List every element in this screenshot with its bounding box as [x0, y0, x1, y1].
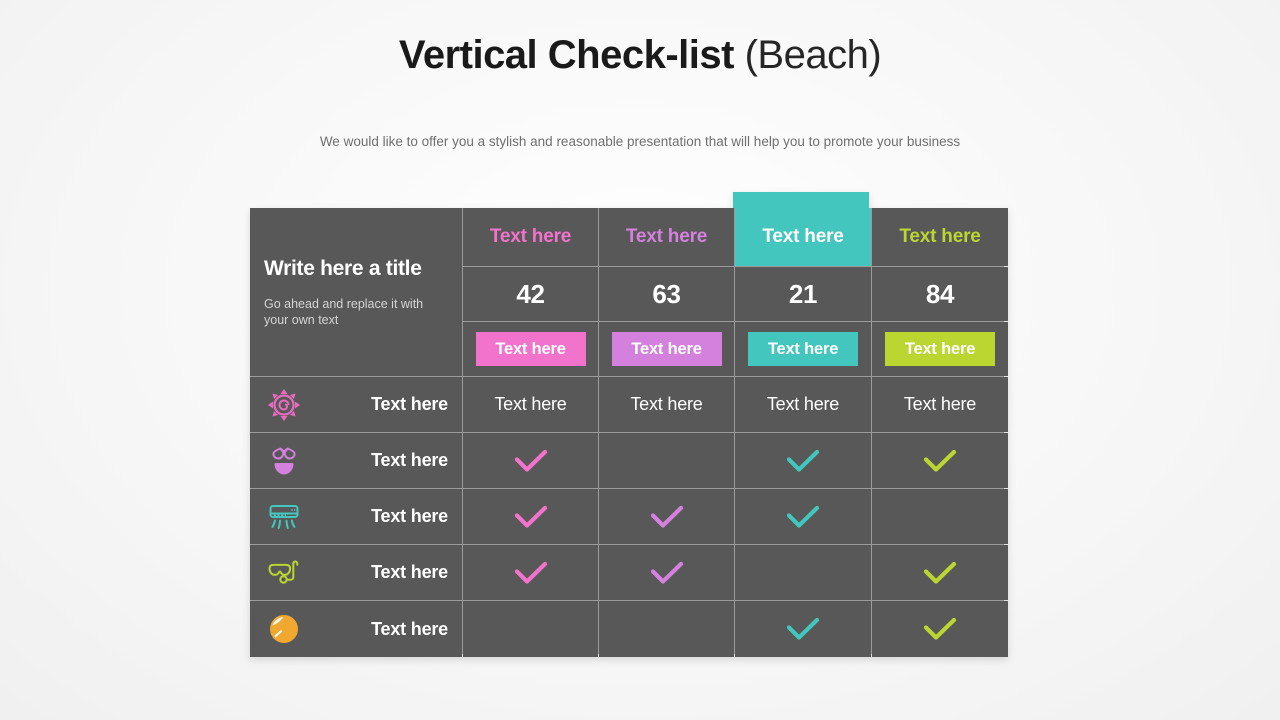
- page-title-strong: Vertical Check-list: [399, 33, 734, 77]
- column-header-1[interactable]: Text here: [463, 208, 598, 266]
- column-header-label: Text here: [899, 226, 980, 248]
- matrix-cell-r2-c4[interactable]: [872, 433, 1008, 488]
- column-header-3[interactable]: Text here: [735, 208, 871, 266]
- column-badge-2[interactable]: Text here: [612, 332, 722, 366]
- air-conditioner-icon: [262, 497, 306, 537]
- snorkel-mask-icon: [262, 553, 306, 593]
- matrix-cell-r2-c2[interactable]: [599, 433, 734, 488]
- matrix-cell-text: Text here: [630, 394, 702, 415]
- check-icon: [514, 448, 548, 474]
- row-label-2[interactable]: Text here: [250, 433, 462, 488]
- row-label-3[interactable]: Text here: [250, 489, 462, 544]
- bikini-icon: [262, 441, 306, 481]
- matrix-cell-text: Text here: [767, 394, 839, 415]
- page-title: Vertical Check-list (Beach): [0, 28, 1280, 82]
- corner-subtitle: Go ahead and replace it with your own te…: [264, 296, 434, 328]
- column-badge-4[interactable]: Text here: [885, 332, 995, 366]
- beach-ball-icon: [262, 609, 306, 649]
- matrix-cell-r4-c4[interactable]: [872, 545, 1008, 600]
- matrix-cell-r4-c3[interactable]: [735, 545, 871, 600]
- column-number-2: 63: [599, 267, 734, 321]
- column-badge-cell-4: Text here: [872, 322, 1008, 376]
- table-corner-title-block: Write here a titleGo ahead and replace i…: [250, 208, 462, 376]
- column-number-1: 42: [463, 267, 598, 321]
- matrix-cell-r3-c2[interactable]: [599, 489, 734, 544]
- row-label-text: Text here: [306, 562, 462, 583]
- sun-spiral-icon: [262, 385, 306, 425]
- column-header-2[interactable]: Text here: [599, 208, 734, 266]
- column-number-value: 63: [652, 279, 680, 310]
- column-badge-3[interactable]: Text here: [748, 332, 858, 366]
- row-label-4[interactable]: Text here: [250, 545, 462, 600]
- matrix-cell-r5-c1[interactable]: [463, 601, 598, 657]
- check-icon: [786, 616, 820, 642]
- column-badge-cell-3: Text here: [735, 322, 871, 376]
- check-icon: [650, 560, 684, 586]
- check-icon: [786, 448, 820, 474]
- matrix-cell-r5-c3[interactable]: [735, 601, 871, 657]
- column-header-label: Text here: [626, 226, 707, 248]
- sun-spiral-icon: [267, 388, 301, 422]
- checklist-grid: Write here a titleGo ahead and replace i…: [250, 208, 1004, 654]
- corner-title: Write here a title: [264, 256, 422, 282]
- column-number-4: 84: [872, 267, 1008, 321]
- check-icon: [514, 560, 548, 586]
- matrix-cell-r4-c1[interactable]: [463, 545, 598, 600]
- matrix-cell-r1-c2[interactable]: Text here: [599, 377, 734, 432]
- column-number-value: 84: [926, 279, 954, 310]
- column-number-value: 21: [789, 279, 817, 310]
- matrix-cell-r3-c3[interactable]: [735, 489, 871, 544]
- row-label-text: Text here: [306, 450, 462, 471]
- column-number-3: 21: [735, 267, 871, 321]
- highlighted-column-tab: [733, 192, 869, 208]
- column-header-label: Text here: [490, 226, 571, 248]
- column-header-label: Text here: [762, 226, 843, 248]
- check-icon: [923, 560, 957, 586]
- matrix-cell-r3-c1[interactable]: [463, 489, 598, 544]
- matrix-cell-r1-c4[interactable]: Text here: [872, 377, 1008, 432]
- column-number-value: 42: [516, 279, 544, 310]
- matrix-cell-text: Text here: [494, 394, 566, 415]
- matrix-cell-r2-c1[interactable]: [463, 433, 598, 488]
- row-label-text: Text here: [306, 394, 462, 415]
- snorkel-mask-icon: [266, 558, 302, 588]
- checklist-table: Write here a titleGo ahead and replace i…: [250, 208, 1004, 654]
- row-label-5[interactable]: Text here: [250, 601, 462, 657]
- matrix-cell-r5-c4[interactable]: [872, 601, 1008, 657]
- matrix-cell-r2-c3[interactable]: [735, 433, 871, 488]
- bikini-icon: [267, 444, 301, 478]
- matrix-cell-r1-c3[interactable]: Text here: [735, 377, 871, 432]
- air-conditioner-icon: [267, 501, 301, 533]
- row-label-text: Text here: [306, 619, 462, 640]
- check-icon: [514, 504, 548, 530]
- page-subtitle: We would like to offer you a stylish and…: [0, 132, 1280, 152]
- check-icon: [923, 448, 957, 474]
- matrix-cell-text: Text here: [904, 394, 976, 415]
- check-icon: [923, 616, 957, 642]
- check-icon: [786, 504, 820, 530]
- matrix-cell-r5-c2[interactable]: [599, 601, 734, 657]
- page-title-light: (Beach): [745, 33, 882, 77]
- matrix-cell-r3-c4[interactable]: [872, 489, 1008, 544]
- column-badge-cell-2: Text here: [599, 322, 734, 376]
- beach-ball-icon: [267, 612, 301, 646]
- matrix-cell-r4-c2[interactable]: [599, 545, 734, 600]
- matrix-cell-r1-c1[interactable]: Text here: [463, 377, 598, 432]
- column-header-4[interactable]: Text here: [872, 208, 1008, 266]
- check-icon: [650, 504, 684, 530]
- row-label-text: Text here: [306, 506, 462, 527]
- column-badge-1[interactable]: Text here: [476, 332, 586, 366]
- row-label-1[interactable]: Text here: [250, 377, 462, 432]
- column-badge-cell-1: Text here: [463, 322, 598, 376]
